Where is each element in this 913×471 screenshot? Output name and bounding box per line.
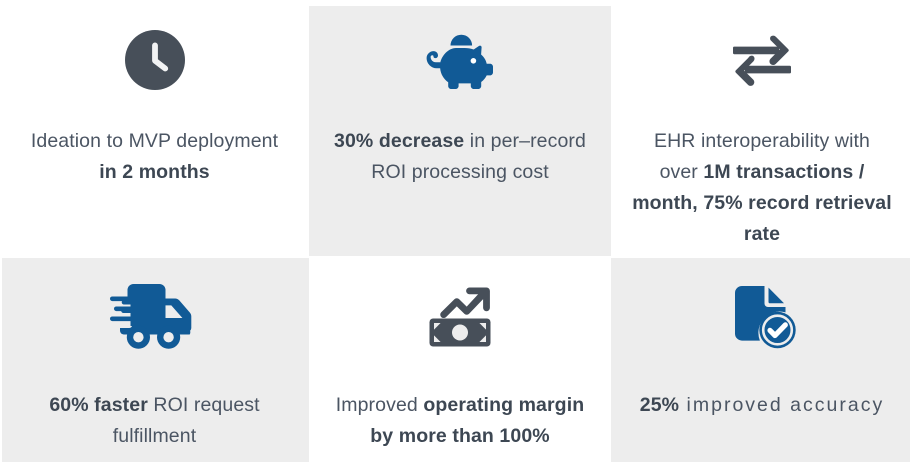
- delivery-truck-icon: [109, 274, 201, 360]
- exchange-arrows-icon: [729, 14, 795, 106]
- stat-text-bold: 30% decrease: [334, 130, 464, 152]
- stat-text: 30% decrease in per–record ROI processin…: [330, 126, 590, 188]
- stat-text: 60% faster ROI request fulfillment: [22, 390, 288, 452]
- stat-text-bold: in 2 months: [99, 161, 210, 183]
- stat-card-ehr-interoperability: EHR interoperability with over 1M transa…: [611, 0, 913, 256]
- stat-text: Improved operating margin by more than 1…: [330, 390, 590, 452]
- stat-text: 25% improved accuracy: [632, 390, 892, 421]
- stat-text: Ideation to MVP deployment in 2 months: [22, 126, 288, 188]
- stat-text-bold: 60% faster: [49, 394, 148, 416]
- stat-text-plain: Improved: [336, 394, 424, 416]
- stat-card-operating-margin: Improved operating margin by more than 1…: [309, 256, 611, 471]
- stat-text: EHR interoperability with over 1M transa…: [632, 126, 892, 250]
- piggy-bank-icon: [423, 14, 497, 106]
- stat-card-improved-accuracy: 25% improved accuracy: [611, 256, 913, 471]
- clock-icon: [123, 14, 187, 106]
- stat-card-request-fulfillment-speed: 60% faster ROI request fulfillment: [0, 256, 309, 471]
- stat-text-bold: 25%: [640, 394, 679, 416]
- stats-grid: Ideation to MVP deployment in 2 months: [0, 0, 913, 471]
- stat-card-roi-cost-decrease: 30% decrease in per–record ROI processin…: [309, 0, 611, 256]
- stat-text-plain: Ideation to MVP deployment: [31, 130, 278, 152]
- stat-text-plain: improved accuracy: [679, 394, 884, 416]
- money-growth-icon: [427, 274, 493, 360]
- document-check-icon: [727, 274, 797, 360]
- stat-card-time-to-mvp: Ideation to MVP deployment in 2 months: [0, 0, 309, 256]
